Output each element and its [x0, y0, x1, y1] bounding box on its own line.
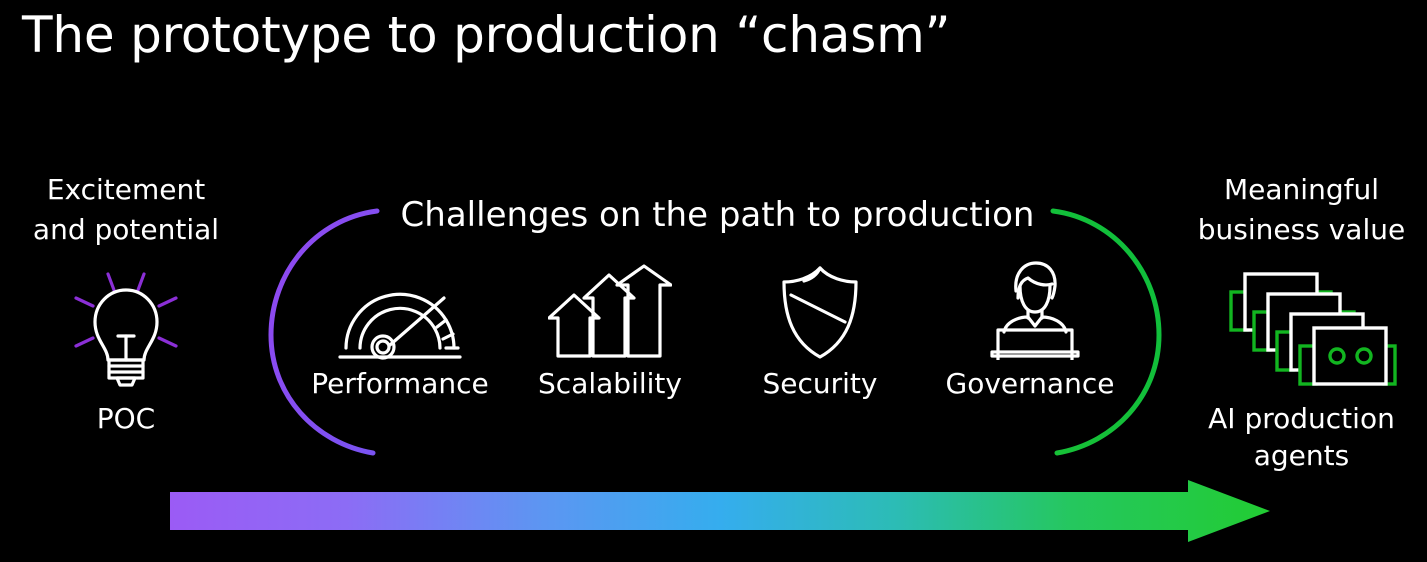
challenge-label: Security — [763, 369, 878, 400]
challenge-label: Performance — [311, 369, 488, 400]
stacked-robot-heads-icon — [1176, 264, 1427, 392]
person-at-laptop-icon — [974, 262, 1086, 360]
challenges-list: Performance Scalability — [300, 262, 1130, 400]
growth-arrows-icon — [548, 262, 672, 360]
challenge-label: Scalability — [538, 369, 682, 400]
right-heading-line1: Meaningful — [1176, 170, 1427, 210]
center-heading: Challenges on the path to production — [385, 195, 1050, 236]
left-heading-line2: and potential — [0, 210, 252, 250]
speedometer-icon — [336, 262, 464, 360]
left-caption: POC — [0, 400, 252, 438]
slide-canvas: The prototype to production “chasm” — [0, 0, 1427, 562]
challenge-label: Governance — [946, 369, 1115, 400]
right-heading-line2: business value — [1176, 210, 1427, 250]
challenge-item-governance[interactable]: Governance — [930, 262, 1130, 400]
right-caption-line1: AI production — [1176, 400, 1427, 438]
lightbulb-icon — [0, 260, 252, 396]
page-title: The prototype to production “chasm” — [22, 8, 950, 63]
challenge-item-security[interactable]: Security — [720, 262, 920, 400]
challenge-item-scalability[interactable]: Scalability — [510, 262, 710, 400]
shield-icon — [777, 262, 863, 360]
left-column: Excitement and potential — [0, 170, 252, 437]
right-caption-line2: agents — [1176, 437, 1427, 475]
challenge-item-performance[interactable]: Performance — [300, 262, 500, 400]
right-column: Meaningful business value — [1176, 170, 1427, 475]
progression-arrow — [170, 480, 1270, 542]
left-heading-line1: Excitement — [0, 170, 252, 210]
